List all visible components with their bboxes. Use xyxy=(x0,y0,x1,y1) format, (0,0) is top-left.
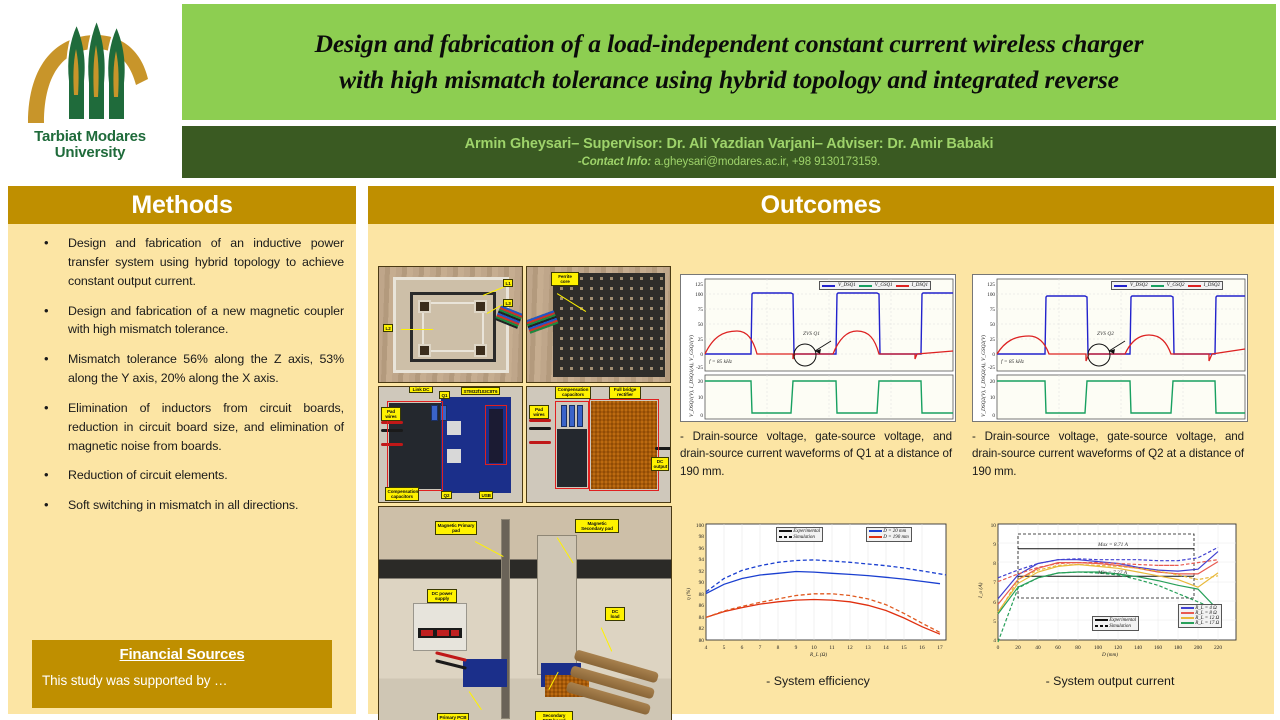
list-item: Mismatch tolerance 56% along the Z axis,… xyxy=(16,350,344,388)
svg-text:100: 100 xyxy=(695,292,703,298)
chart-output-current: 1098 765 4 02040 6080100 120140160 18020… xyxy=(972,518,1248,694)
outcomes-heading: Outcomes xyxy=(368,186,1274,224)
q2-plot-area: V_DSQ2(V), I_DSQ2(A), V_GSQ2(V) xyxy=(972,274,1248,422)
outcomes-body: L1 L3 L2 Ferrite core xyxy=(368,224,1274,714)
legend-label-vgs: V_GSQ2 xyxy=(1167,283,1185,288)
svg-text:0: 0 xyxy=(992,352,995,358)
highlight-box xyxy=(589,399,659,491)
photo-label-pad-wires: Pad wires xyxy=(529,405,549,419)
svg-text:10: 10 xyxy=(990,395,996,401)
contact-value: a.gheysari@modares.ac.ir, +98 9130173159… xyxy=(654,156,880,168)
logo-line-1: Tarbiat Modares xyxy=(34,129,146,145)
legend-swatch-vgs xyxy=(859,285,872,287)
svg-text:25: 25 xyxy=(990,337,996,343)
photo-label-pad-wires: Pad wires xyxy=(381,407,401,421)
legend-swatch-rl12 xyxy=(1181,617,1194,619)
secondary-pad-vertical xyxy=(537,535,577,675)
svg-text:100: 100 xyxy=(1094,645,1102,651)
photo-label-l3: L3 xyxy=(503,299,513,307)
svg-text:100: 100 xyxy=(987,292,995,298)
svg-text:20: 20 xyxy=(990,379,996,385)
svg-text:60: 60 xyxy=(1055,645,1061,651)
svg-text:40: 40 xyxy=(1035,645,1041,651)
svg-text:0: 0 xyxy=(992,413,995,419)
svg-text:10: 10 xyxy=(811,645,817,651)
svg-text:6: 6 xyxy=(993,600,996,606)
q1-zvs-note: ZVS Q1 xyxy=(803,331,820,337)
university-logo-text: Tarbiat Modares University xyxy=(34,129,146,161)
ferrite-grid xyxy=(553,273,665,377)
photo-label-rectifier: Full bridge rectifier xyxy=(609,386,641,399)
svg-text:100: 100 xyxy=(696,523,704,529)
list-item: Elimination of inductors from circuit bo… xyxy=(16,399,344,456)
poster-title-line-1: Design and fabrication of a load-indepen… xyxy=(315,26,1144,62)
caption-efficiency: - System efficiency xyxy=(680,674,956,688)
photo-ferrite-core: Ferrite core xyxy=(526,266,671,383)
financial-sources-title: Financial Sources xyxy=(42,646,322,663)
legend-label-ids: I_DSQ2 xyxy=(1204,283,1220,288)
list-item: Soft switching in mismatch in all direct… xyxy=(16,496,344,515)
legend-label-simulation: Simulation xyxy=(793,535,815,540)
university-logo: Tarbiat Modares University xyxy=(0,0,180,180)
contact-info: -Contact Info: a.gheysari@modares.ac.ir,… xyxy=(578,156,880,168)
authors-text: Armin Gheysari– Supervisor: Dr. Ali Yazd… xyxy=(465,136,994,153)
q2-legend: V_DSQ2 V_GSQ2 I_DSQ2 xyxy=(1111,281,1223,290)
mosfet-q2 xyxy=(447,449,461,463)
svg-text:14: 14 xyxy=(883,645,889,651)
svg-text:220: 220 xyxy=(1214,645,1222,651)
photo-grid: L1 L3 L2 Ferrite core xyxy=(378,266,674,720)
photo-label-dc-load: DC load xyxy=(605,607,625,621)
legend-row-experimental: Experimental xyxy=(779,529,820,534)
legend-swatch-rl17 xyxy=(1181,622,1194,624)
pointer-arrow xyxy=(468,691,481,710)
svg-text:75: 75 xyxy=(990,307,996,313)
highlight-box xyxy=(555,401,589,489)
list-item: Design and fabrication of a new magnetic… xyxy=(16,302,344,340)
legend-label-rl17: R_L = 17 Ω xyxy=(1195,621,1219,626)
current-min-annotation: Min = 7.27 A xyxy=(1098,570,1127,576)
caption-q1: - Drain-source voltage, gate-source volt… xyxy=(680,428,952,480)
photo-label-secondary-pcb: Secondary PCB board xyxy=(535,711,573,720)
pad-wire xyxy=(529,427,551,430)
financial-sources-text: This study was supported by … xyxy=(42,673,322,688)
svg-text:50: 50 xyxy=(698,322,704,328)
psu-digit xyxy=(437,630,449,636)
svg-text:120: 120 xyxy=(1114,645,1122,651)
svg-text:4: 4 xyxy=(993,638,996,644)
svg-text:8: 8 xyxy=(777,645,780,651)
photo-label-dc-power-supply: DC power supply xyxy=(427,589,457,603)
legend-swatch-ids xyxy=(896,285,909,287)
legend-swatch-simulation xyxy=(1095,625,1108,627)
caption-q2: - Drain-source voltage, gate-source volt… xyxy=(972,428,1244,480)
q1-plot-area: V_DSQ1(V), I_DSQ1(A), V_GSQ1(V) xyxy=(680,274,956,422)
svg-text:200: 200 xyxy=(1194,645,1202,651)
current-x-axis-title: D (mm) xyxy=(1102,652,1118,658)
photo-secondary-pcb: Compensation capacitors Full bridge rect… xyxy=(526,386,671,503)
photo-experimental-setup: Magnetic Primary pad Magnetic Secondary … xyxy=(378,506,672,720)
legend-label-vds: V_DSQ2 xyxy=(1130,283,1148,288)
svg-text:17: 17 xyxy=(937,645,943,651)
svg-text:82: 82 xyxy=(699,626,705,632)
outcomes-column: Outcomes xyxy=(368,186,1274,714)
ferrite-square xyxy=(474,344,487,357)
ferrite-square xyxy=(418,300,431,313)
mosfet-q1 xyxy=(447,421,461,435)
pointer-arrow xyxy=(600,627,612,651)
photo-label-usb: USB xyxy=(479,491,493,499)
legend-row-rl17: R_L = 17 Ω xyxy=(1181,621,1219,626)
primary-pad-vertical xyxy=(501,519,510,719)
efficiency-plot-area: 1009896 949290 888684 8280 456 789 10111… xyxy=(680,518,956,668)
svg-text:98: 98 xyxy=(699,534,705,540)
q1-legend: V_DSQ1 V_GSQ1 I_DSQ1 xyxy=(819,281,931,290)
ferrite-square xyxy=(474,300,487,313)
legend-swatch-simulation xyxy=(779,536,792,538)
svg-text:8: 8 xyxy=(993,561,996,567)
chart-system-efficiency: 1009896 949290 888684 8280 456 789 10111… xyxy=(680,518,956,694)
legend-swatch-vds xyxy=(1114,285,1127,287)
photo-label-comp-caps: Compensation capacitors xyxy=(385,487,419,501)
legend-swatch-rl8 xyxy=(1181,612,1194,614)
poster-root: Tarbiat Modares University Design and fa… xyxy=(0,0,1280,720)
legend-row-d190: D = 190 mm xyxy=(869,535,909,540)
svg-text:50: 50 xyxy=(990,322,996,328)
highlight-box xyxy=(485,405,507,465)
photo-label-comp-caps: Compensation capacitors xyxy=(555,386,591,399)
svg-text:160: 160 xyxy=(1154,645,1162,651)
chart-q2-waveforms: V_DSQ2(V), I_DSQ2(A), V_GSQ2(V) xyxy=(972,274,1248,422)
svg-text:75: 75 xyxy=(698,307,704,313)
q2-frequency-note: f = 85 kHz xyxy=(1001,359,1024,365)
methods-body: Design and fabrication of an inductive p… xyxy=(8,224,356,714)
svg-text:96: 96 xyxy=(699,546,705,552)
photo-row-coupler: L1 L3 L2 Ferrite core xyxy=(378,266,674,383)
photo-label-secondary-pad: Magnetic Secondary pad xyxy=(575,519,619,533)
q1-frequency-note: f = 85 kHz xyxy=(709,359,732,365)
legend-swatch-d190 xyxy=(869,536,882,538)
pad-wire xyxy=(529,419,551,422)
photo-label-l1: L1 xyxy=(503,279,513,287)
current-max-annotation: Max = 8.71 A xyxy=(1098,542,1128,548)
psu-digit xyxy=(421,630,433,636)
legend-swatch-vds xyxy=(822,285,835,287)
svg-text:13: 13 xyxy=(865,645,871,651)
photo-label-dc-output: DC output xyxy=(651,457,669,471)
svg-text:0: 0 xyxy=(700,352,703,358)
current-legend-color: R_L = 4 Ω R_L = 8 Ω R_L = 12 Ω xyxy=(1178,604,1222,628)
efficiency-legend-style: Experimental Simulation xyxy=(776,527,823,542)
q2-zvs-note: ZVS Q2 xyxy=(1097,331,1114,337)
svg-text:7: 7 xyxy=(993,580,996,586)
list-item: Design and fabrication of an inductive p… xyxy=(16,234,344,291)
svg-text:10: 10 xyxy=(991,523,997,529)
photo-label-primary-pcb: Primary PCB board xyxy=(437,713,469,720)
svg-text:90: 90 xyxy=(699,580,705,586)
photo-magnetic-coupler-pad: L1 L3 L2 xyxy=(378,266,523,383)
svg-text:25: 25 xyxy=(698,337,704,343)
photo-label-ferrite-core: Ferrite core xyxy=(551,272,579,286)
legend-label-d190: D = 190 mm xyxy=(883,535,908,540)
university-logo-mark xyxy=(20,19,160,127)
poster-title-bar: Design and fabrication of a load-indepen… xyxy=(182,4,1276,120)
svg-text:20: 20 xyxy=(698,379,704,385)
efficiency-x-axis-title: R_L (Ω) xyxy=(810,652,827,658)
psu-digit xyxy=(451,630,459,636)
legend-swatch-rl4 xyxy=(1181,607,1194,609)
primary-pcb-in-setup xyxy=(463,659,507,687)
svg-text:7: 7 xyxy=(759,645,762,651)
ferrite-square xyxy=(418,344,431,357)
svg-text:0: 0 xyxy=(700,413,703,419)
efficiency-legend-color: D = 20 mm D = 190 mm xyxy=(866,527,912,542)
dc-power-supply xyxy=(413,603,467,651)
svg-text:11: 11 xyxy=(829,645,834,651)
photo-label-link-dc: Link DC xyxy=(409,386,433,393)
legend-label-d20: D = 20 mm xyxy=(883,529,906,534)
financial-sources-box: Financial Sources This study was support… xyxy=(32,640,332,708)
legend-label-vgs: V_GSQ1 xyxy=(875,283,893,288)
svg-text:9: 9 xyxy=(795,645,798,651)
legend-row-d20: D = 20 mm xyxy=(869,529,906,534)
svg-text:6: 6 xyxy=(741,645,744,651)
photo-label-l2: L2 xyxy=(383,324,393,332)
legend-label-simulation: Simulation xyxy=(1109,624,1131,629)
legend-swatch-d20 xyxy=(869,530,882,532)
svg-text:5: 5 xyxy=(723,645,726,651)
pointer-arrow xyxy=(401,329,433,330)
methods-heading: Methods xyxy=(8,186,356,224)
photo-label-primary-pad: Magnetic Primary pad xyxy=(435,521,477,535)
svg-text:10: 10 xyxy=(698,395,704,401)
list-item: Reduction of circuit elements. xyxy=(16,466,344,485)
svg-text:9: 9 xyxy=(993,542,996,548)
legend-label-ids: I_DSQ1 xyxy=(912,283,928,288)
methods-bullet-list: Design and fabrication of an inductive p… xyxy=(12,234,352,515)
pad-wire xyxy=(529,441,551,444)
svg-text:180: 180 xyxy=(1174,645,1182,651)
svg-text:125: 125 xyxy=(695,282,703,288)
photo-row-pcb: Link DC Q1 STM32f103C8T6 Pad wires Compe… xyxy=(378,386,674,503)
svg-text:4: 4 xyxy=(705,645,708,651)
legend-label-experimental: Experimental xyxy=(1109,618,1136,623)
logo-line-2: University xyxy=(34,145,146,161)
pointer-arrow xyxy=(475,541,504,557)
poster-title-line-2: with high mismatch tolerance using hybri… xyxy=(339,62,1119,98)
svg-text:0: 0 xyxy=(997,645,1000,651)
svg-text:16: 16 xyxy=(919,645,925,651)
current-y-axis-title: I_o (A) xyxy=(978,583,984,598)
legend-swatch-experimental xyxy=(779,530,792,532)
photo-label-q2: Q2 xyxy=(441,491,452,499)
svg-text:140: 140 xyxy=(1134,645,1142,651)
svg-text:125: 125 xyxy=(987,282,995,288)
svg-text:92: 92 xyxy=(699,569,705,575)
photo-primary-pcb: Link DC Q1 STM32f103C8T6 Pad wires Compe… xyxy=(378,386,523,503)
svg-text:20: 20 xyxy=(1015,645,1021,651)
svg-text:80: 80 xyxy=(699,638,705,644)
svg-text:86: 86 xyxy=(699,603,705,609)
current-plot-area: 1098 765 4 02040 6080100 120140160 18020… xyxy=(972,518,1248,668)
photo-label-stm32: STM32f103C8T6 xyxy=(461,387,500,395)
efficiency-y-axis-title: η (%) xyxy=(686,588,692,600)
svg-text:15: 15 xyxy=(901,645,907,651)
legend-label-vds: V_DSQ1 xyxy=(838,283,856,288)
svg-text:12: 12 xyxy=(847,645,853,651)
svg-text:-25: -25 xyxy=(696,365,703,371)
legend-row-simulation: Simulation xyxy=(779,535,815,540)
svg-text:80: 80 xyxy=(1075,645,1081,651)
svg-text:94: 94 xyxy=(699,557,705,563)
contact-label: -Contact Info: xyxy=(578,156,651,168)
photo-label-q1: Q1 xyxy=(439,391,450,399)
legend-swatch-experimental xyxy=(1095,619,1108,621)
legend-row-experimental: Experimental xyxy=(1095,618,1136,623)
legend-label-experimental: Experimental xyxy=(793,529,820,534)
poster-authors-bar: Armin Gheysari– Supervisor: Dr. Ali Yazd… xyxy=(182,126,1276,178)
caption-output-current: - System output current xyxy=(972,674,1248,688)
svg-text:5: 5 xyxy=(993,619,996,625)
svg-text:-25: -25 xyxy=(988,365,995,371)
poster-header: Tarbiat Modares University Design and fa… xyxy=(0,0,1280,180)
current-legend-style: Experimental Simulation xyxy=(1092,616,1139,631)
chart-q1-waveforms: V_DSQ1(V), I_DSQ1(A), V_GSQ1(V) xyxy=(680,274,956,422)
legend-swatch-ids xyxy=(1188,285,1201,287)
svg-text:84: 84 xyxy=(699,615,705,621)
svg-text:88: 88 xyxy=(699,592,705,598)
legend-row-simulation: Simulation xyxy=(1095,624,1131,629)
methods-column: Methods Design and fabrication of an ind… xyxy=(8,186,356,714)
legend-swatch-vgs xyxy=(1151,285,1164,287)
charts-area: V_DSQ1(V), I_DSQ1(A), V_GSQ1(V) xyxy=(680,266,1266,720)
